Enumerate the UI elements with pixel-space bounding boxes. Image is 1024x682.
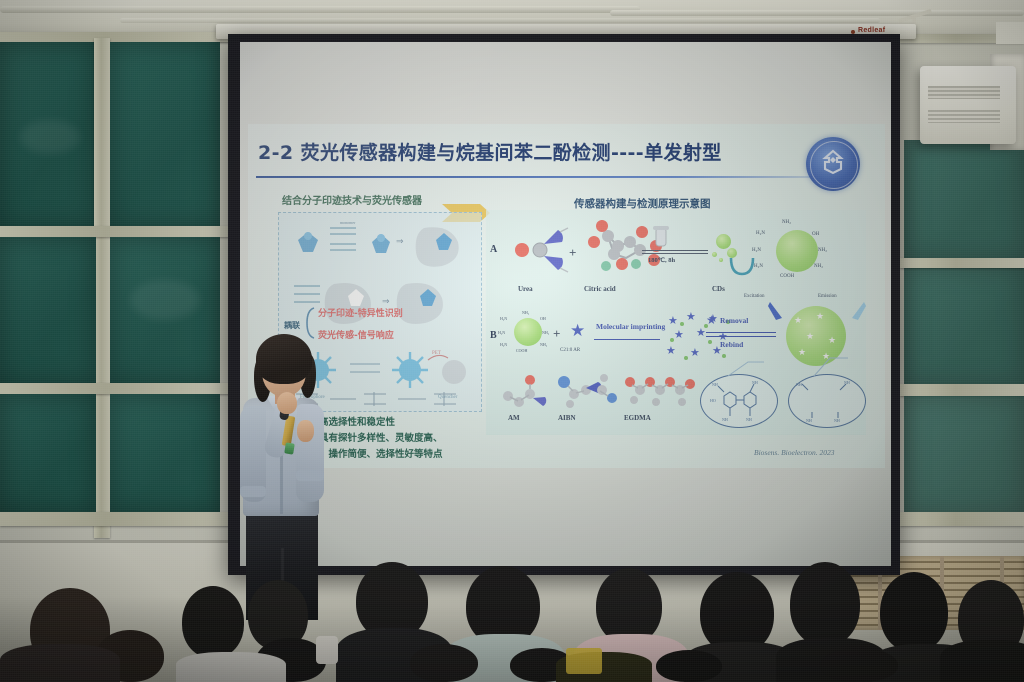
excitation-label: Excitation [744,294,765,299]
board-frame-mid [0,226,232,237]
cd-b-group-5: NH₂ [542,330,549,335]
chalkboard-left-e [0,394,96,514]
svg-text:⇒: ⇒ [382,296,390,306]
cd-particle-4 [719,258,723,262]
svg-text:NH: NH [712,382,718,387]
board-smudge-2 [130,280,200,320]
presenter-left-hand [277,392,297,414]
am-label: AM [508,414,520,422]
aibn-label: AIBN [558,414,576,422]
urea-label: Urea [518,285,533,293]
chalkboard-left-b [110,42,220,228]
cd-group-oh: OH [812,232,819,237]
ac-vent-2 [928,110,1000,123]
title-underline [256,176,856,178]
plus-sign-b: + [553,326,560,342]
left-panel-heading: 结合分子印迹技术与荧光传感器 [282,192,422,207]
svg-text:HO: HO [710,398,716,403]
cds-label: CDs [712,285,725,293]
emission-beam-icon [846,300,868,324]
cd-group-nh2-c: NH₂ [814,264,823,269]
cd-b-group-3: OH [540,316,546,321]
callout-line-2 [812,356,852,378]
audience-head [820,648,898,682]
board-smudge [20,120,80,154]
cd-b-group-8: COOH [516,348,527,353]
brace-icon [304,306,316,340]
audience-shoulders [940,640,1024,682]
logo-glyph-icon [819,149,847,175]
plus-sign-a: + [569,245,576,261]
cd-particle-3 [712,252,717,257]
annotation-imprint: 分子印迹-特异性识别 [318,306,403,319]
rebind-arrow [706,336,776,337]
ac-vent [928,86,1000,99]
svg-text:NH: NH [844,380,850,385]
audience-head [880,572,948,652]
imprinting-cartoon-top: monomer ⇒ [284,218,474,284]
reaction-condition: 180℃, 8h [648,256,675,264]
cd-b-group-1: H₂N [500,316,507,321]
board-frame-right-bot [900,384,1024,396]
audience-shoulders [0,644,120,682]
audience-head [790,562,860,646]
svg-text:monomer: monomer [340,220,356,225]
cd-group-cooh: COOH [780,274,794,279]
air-conditioner [920,66,1016,144]
reaction-arrow-a2 [642,253,708,254]
svg-text:NH: NH [834,418,840,422]
board-mullion-1 [94,38,110,538]
presenter-hair [256,334,312,384]
university-logo-icon [806,137,860,191]
cd-b-group-4: H₂N [498,330,505,335]
cd-scoop-icon [728,256,756,278]
chalkboard-right-b [904,266,1024,386]
imprinting-cartoon-mid: ⇒ [290,276,470,328]
urea-molecule [510,222,572,276]
removal-star-icon: ★ [706,314,717,326]
svg-text:NH: NH [752,380,758,385]
ceiling-pipe-2 [610,10,1024,16]
imprinting-process-label: Molecular imprinting [596,322,665,331]
chalkboard-left-c [0,237,96,385]
removal-label: Removal [720,316,748,325]
imprinting-arrow [594,339,660,340]
rebind-label: Rebind [720,340,743,349]
chalkboard-right-c [904,396,1024,516]
microphone-base [284,442,295,454]
aibn-molecule [556,372,618,412]
cd-b-group-7: NH₂ [540,342,547,347]
emission-label: Emission [818,294,837,299]
egdma-label: EGDMA [624,414,651,422]
presenter-cuff-right [296,470,324,481]
cd-group-h2n-c: H₂N [754,264,763,269]
board-frame-right-mid [900,258,1024,268]
template-label: C21:0 AR [560,348,580,353]
board-frame-right-base [900,512,1024,526]
audience-bag-accent [566,648,602,674]
excitation-beam-icon [766,300,788,324]
row-a-letter: A [490,244,497,255]
audience-head [182,586,244,658]
presenter-right-arm [296,404,324,502]
cd-dot-b [514,318,542,346]
board-frame-bottom [0,512,232,526]
svg-text:NH: NH [746,417,752,422]
audience-head [656,650,722,682]
presenter-cuff-left [240,486,266,497]
board-frame-mid2 [0,383,232,394]
cd-b-group-6: H₂N [500,342,507,347]
audience-shoulders [176,652,286,682]
audience-head [596,568,662,644]
right-panel-heading: 传感器构建与检测原理示意图 [574,196,711,211]
cd-group-h2n-b: H₂N [752,248,761,253]
water-bottle [316,636,338,664]
binding-site-structure-1: NH NH NH NH HO [704,378,772,422]
callout-line-1 [726,360,766,378]
citric-acid-label: Citric acid [584,285,616,293]
ceiling-pipe [0,6,640,13]
row-b-letter: B [490,330,497,341]
template-star-icon: ★ [570,322,585,339]
cd-particle-1 [716,234,731,249]
annotation-sensing: 荧光传感-信号响应 [318,328,394,341]
cd-b-group-2: NH₂ [522,310,529,315]
screenshot-root: Redleaf 2-2 荧光传感器构建与烷基间苯二酚检测----单发射型 结合分… [0,0,1024,682]
ac-mount-box [996,22,1024,44]
cd-group-h2n-a: H₂N [756,231,765,236]
presenter-right-hand [297,420,314,442]
ceiling-pipe-3 [120,18,880,23]
svg-text:NH: NH [722,417,728,422]
svg-text:⇒: ⇒ [396,236,404,246]
egdma-molecule [622,370,696,412]
coupling-label: 耦联 [284,320,300,331]
binding-site-structure-2: NH NH NH NH [792,378,860,422]
slide-title: 2-2 荧光传感器构建与烷基间苯二酚检测----单发射型 [258,138,798,166]
svg-text:NH: NH [806,418,812,422]
board-frame-top [0,32,232,42]
am-molecule [502,374,554,410]
screen-brand-label: Redleaf [858,27,885,34]
svg-text:NH: NH [796,382,802,387]
removal-arrow [706,332,776,333]
chalkboard-left-f [110,394,220,514]
svg-text:PET: PET [432,351,441,356]
chalkboard-right-a [904,140,1024,260]
cd-group-nh2-top: NH₂ [782,220,791,225]
reaction-arrow-a [642,250,708,251]
citation-label: Biosens. Bioelectron. 2023 [754,448,835,457]
cd-group-nh2-b: NH₂ [818,248,827,253]
autoclave-icon [648,224,674,250]
audience-head [410,644,478,682]
